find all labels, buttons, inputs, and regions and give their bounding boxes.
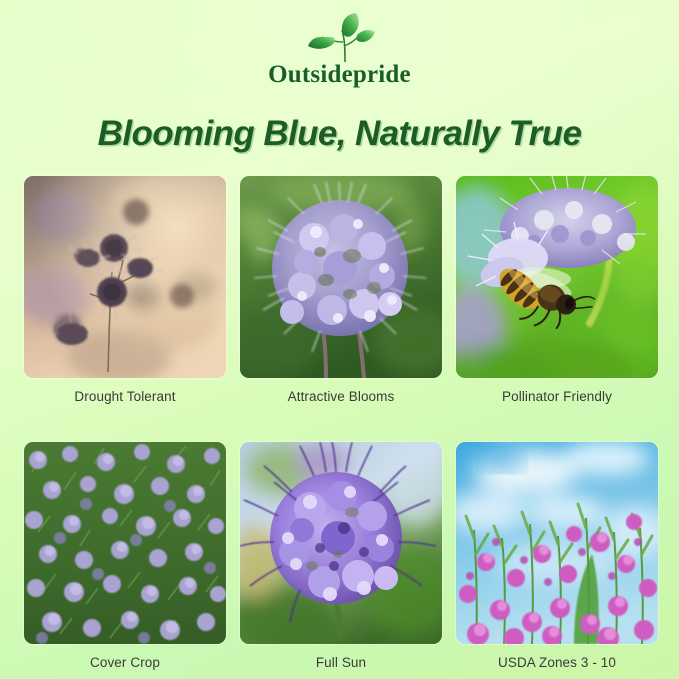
feature-caption: USDA Zones 3 - 10 — [456, 644, 658, 670]
feature-cell-drought-tolerant: Drought Tolerant — [24, 176, 226, 404]
honeybee-on-phacelia-image — [456, 176, 658, 378]
page-title: Blooming Blue, Naturally True — [0, 114, 679, 154]
feature-grid: Drought Tolerant — [24, 176, 658, 670]
phacelia-flower-cluster-image — [240, 176, 442, 378]
pink-wildflowers-sky-image — [456, 442, 658, 644]
promo-image-root: Outsidepride Blooming Blue, Naturally Tr… — [0, 0, 679, 679]
feature-image-attractive-blooms — [240, 176, 442, 378]
feature-caption: Pollinator Friendly — [456, 378, 658, 404]
three-leaf-sprig-icon — [301, 12, 379, 64]
feature-image-usda-zones — [456, 442, 658, 644]
feature-cell-full-sun: Full Sun — [240, 442, 442, 670]
feature-cell-attractive-blooms: Attractive Blooms — [240, 176, 442, 404]
brand-name: Outsidepride — [0, 62, 679, 88]
feature-image-pollinator-friendly — [456, 176, 658, 378]
phacelia-field-image — [24, 442, 226, 644]
feature-cell-usda-zones: USDA Zones 3 - 10 — [456, 442, 658, 670]
feature-image-drought-tolerant — [24, 176, 226, 378]
feature-image-cover-crop — [24, 442, 226, 644]
feature-caption: Attractive Blooms — [240, 378, 442, 404]
feature-cell-pollinator-friendly: Pollinator Friendly — [456, 176, 658, 404]
brand-logo: Outsidepride — [0, 12, 679, 88]
feature-caption: Full Sun — [240, 644, 442, 670]
feature-image-full-sun — [240, 442, 442, 644]
dried-phacelia-seedheads-image — [24, 176, 226, 378]
feature-cell-cover-crop: Cover Crop — [24, 442, 226, 670]
feature-caption: Cover Crop — [24, 644, 226, 670]
feature-caption: Drought Tolerant — [24, 378, 226, 404]
purple-phacelia-bloom-image — [240, 442, 442, 644]
